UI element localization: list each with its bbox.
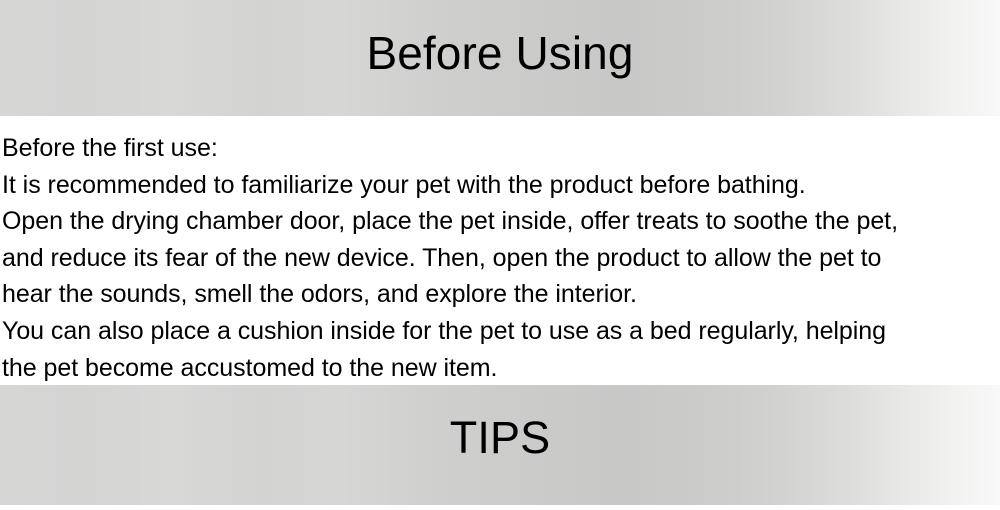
before-using-paragraph: Before the first use: It is recommended …: [2, 130, 1000, 386]
manual-page: Before Using Before the first use: It is…: [0, 0, 1000, 510]
body-section: Before the first use: It is recommended …: [0, 116, 1000, 385]
header-banner: Before Using: [0, 0, 1000, 116]
page-title: Before Using: [0, 25, 1000, 81]
bottom-strip: [0, 505, 1000, 510]
tips-banner: TIPS: [0, 385, 1000, 505]
tips-heading: TIPS: [0, 410, 1000, 466]
